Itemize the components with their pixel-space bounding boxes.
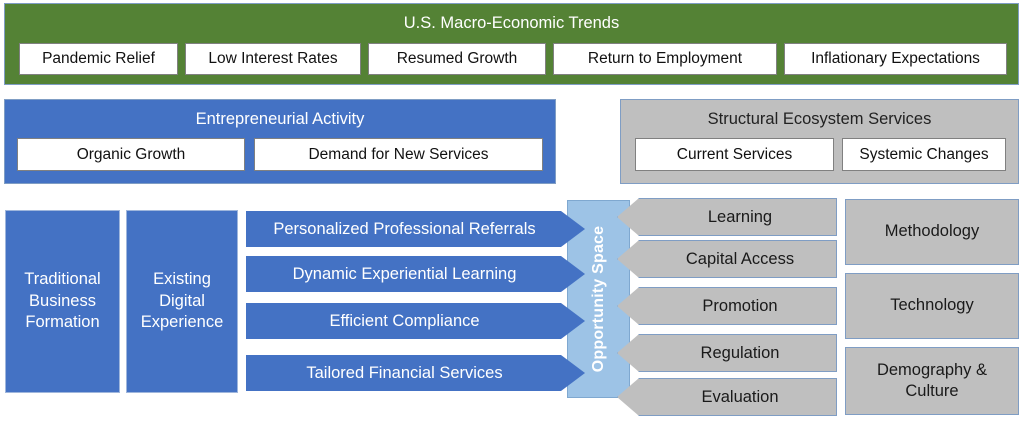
enabler-chevron-label: Regulation: [701, 344, 780, 363]
capability-box-demography-culture[interactable]: Demography & Culture: [845, 347, 1019, 415]
entrepreneurial-chip-demand-for-new-services[interactable]: Demand for New Services: [254, 138, 543, 171]
pillar-existing-digital-experience: Existing Digital Experience: [126, 210, 238, 393]
offering-arrow-tailored-financial-services[interactable]: Tailored Financial Services: [246, 355, 585, 391]
macro-chip-resumed-growth[interactable]: Resumed Growth: [368, 43, 546, 75]
enabler-chevron-learning[interactable]: Learning: [617, 198, 837, 236]
structural-chip-current-services[interactable]: Current Services: [635, 138, 834, 171]
enabler-chevron-regulation[interactable]: Regulation: [617, 334, 837, 372]
macro-chip-low-interest-rates[interactable]: Low Interest Rates: [185, 43, 361, 75]
macro-chip-pandemic-relief[interactable]: Pandemic Relief: [19, 43, 178, 75]
capability-box-methodology[interactable]: Methodology: [845, 199, 1019, 265]
pillar-traditional-business-formation: Traditional Business Formation: [5, 210, 120, 393]
enabler-chevron-capital-access[interactable]: Capital Access: [617, 240, 837, 278]
entrepreneurial-activity-band: Entrepreneurial Activity Organic Growth …: [4, 99, 556, 184]
enabler-chevron-evaluation[interactable]: Evaluation: [617, 378, 837, 416]
structural-band-title: Structural Ecosystem Services: [621, 111, 1018, 128]
offering-arrow-personalized-professional-referrals[interactable]: Personalized Professional Referrals: [246, 211, 585, 247]
enabler-chevron-promotion[interactable]: Promotion: [617, 287, 837, 325]
macro-chip-inflationary-expectations[interactable]: Inflationary Expectations: [784, 43, 1007, 75]
macro-chip-return-to-employment[interactable]: Return to Employment: [553, 43, 777, 75]
enabler-chevron-label: Promotion: [702, 297, 777, 316]
capability-box-technology[interactable]: Technology: [845, 273, 1019, 339]
enabler-chevron-label: Evaluation: [701, 388, 778, 407]
offering-arrow-efficient-compliance[interactable]: Efficient Compliance: [246, 303, 585, 339]
offering-arrow-dynamic-experiential-learning[interactable]: Dynamic Experiential Learning: [246, 256, 585, 292]
opportunity-space-label: Opportunity Space: [590, 226, 608, 373]
diagram-canvas: U.S. Macro-Economic Trends Pandemic Reli…: [0, 0, 1023, 421]
entrepreneurial-band-title: Entrepreneurial Activity: [5, 111, 555, 128]
macro-band-title: U.S. Macro-Economic Trends: [5, 15, 1018, 32]
enabler-chevron-label: Capital Access: [686, 250, 794, 269]
enabler-chevron-label: Learning: [708, 208, 772, 227]
macro-economic-trends-band: U.S. Macro-Economic Trends Pandemic Reli…: [4, 3, 1019, 85]
entrepreneurial-chip-organic-growth[interactable]: Organic Growth: [17, 138, 245, 171]
structural-chip-systemic-changes[interactable]: Systemic Changes: [842, 138, 1006, 171]
structural-ecosystem-services-band: Structural Ecosystem Services Current Se…: [620, 99, 1019, 184]
